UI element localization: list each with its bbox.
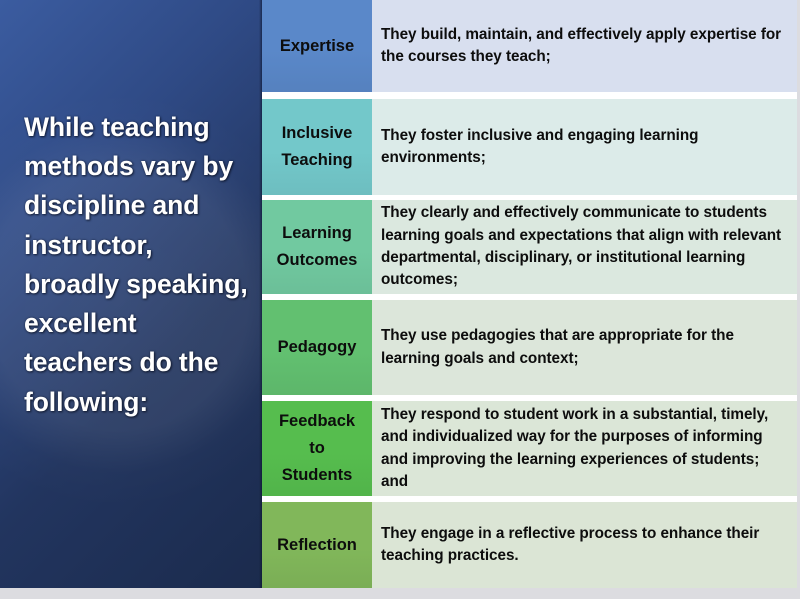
row-description-cell-expertise: They build, maintain, and effectively ap…	[372, 0, 797, 92]
row-label-text: Pedagogy	[278, 334, 357, 361]
slide-canvas: While teaching methods vary by disciplin…	[0, 0, 800, 599]
row-description-text: They build, maintain, and effectively ap…	[381, 24, 785, 69]
row-label-cell-learning-outcomes: LearningOutcomes	[262, 200, 372, 294]
row-description-cell-learning-outcomes: They clearly and effectively communicate…	[372, 200, 797, 294]
criteria-table: Expertise They build, maintain, and effe…	[262, 0, 797, 588]
row-description-text: They respond to student work in a substa…	[381, 404, 785, 493]
bottom-edge-strip	[0, 588, 800, 599]
table-row: InclusiveTeaching They foster inclusive …	[262, 99, 797, 195]
row-label-text: Reflection	[277, 532, 357, 559]
row-description-text: They foster inclusive and engaging learn…	[381, 125, 785, 170]
row-label-text: FeedbacktoStudents	[279, 408, 355, 488]
row-label-text: Expertise	[280, 33, 354, 60]
table-row: LearningOutcomes They clearly and effect…	[262, 200, 797, 294]
row-label-cell-pedagogy: Pedagogy	[262, 300, 372, 395]
table-row: Pedagogy They use pedagogies that are ap…	[262, 300, 797, 395]
row-description-text: They clearly and effectively communicate…	[381, 202, 785, 291]
row-description-cell-reflection: They engage in a reflective process to e…	[372, 502, 797, 588]
panel-heading-text: While teaching methods vary by disciplin…	[24, 108, 250, 422]
row-label-cell-expertise: Expertise	[262, 0, 372, 92]
left-heading-panel: While teaching methods vary by disciplin…	[0, 0, 262, 588]
row-description-cell-pedagogy: They use pedagogies that are appropriate…	[372, 300, 797, 395]
row-description-cell-inclusive-teaching: They foster inclusive and engaging learn…	[372, 99, 797, 195]
row-description-text: They engage in a reflective process to e…	[381, 523, 785, 568]
row-label-cell-feedback-to-students: FeedbacktoStudents	[262, 401, 372, 496]
table-row: FeedbacktoStudents They respond to stude…	[262, 401, 797, 496]
row-label-cell-reflection: Reflection	[262, 502, 372, 588]
row-description-text: They use pedagogies that are appropriate…	[381, 325, 785, 370]
table-row: Reflection They engage in a reflective p…	[262, 502, 797, 588]
row-description-cell-feedback-to-students: They respond to student work in a substa…	[372, 401, 797, 496]
row-label-cell-inclusive-teaching: InclusiveTeaching	[262, 99, 372, 195]
row-label-text: LearningOutcomes	[277, 220, 358, 273]
table-row: Expertise They build, maintain, and effe…	[262, 0, 797, 92]
row-label-text: InclusiveTeaching	[281, 120, 352, 173]
